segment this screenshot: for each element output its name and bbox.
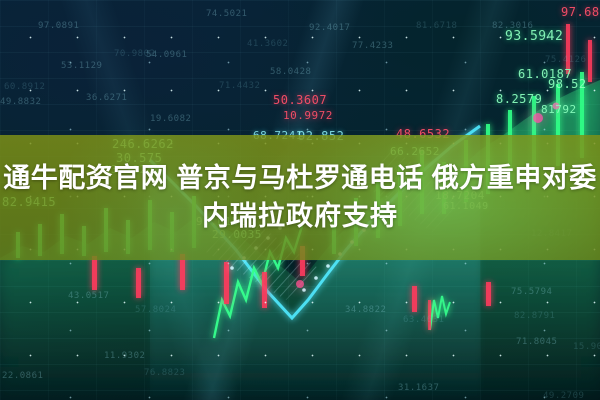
headline-text-block: 通牛配资官网 普京与马杜罗通电话 俄方重申对委 内瑞拉政府支持 [0,135,600,260]
price-ticker: 19.6082 [150,115,191,124]
price-ticker: 41.3602 [247,40,288,49]
price-ticker: 71.8045 [516,338,557,347]
price-ticker: 57.8024 [135,306,176,315]
price-ticker: 81792 [541,104,577,115]
price-ticker: 74.5021 [206,10,247,19]
price-ticker: 75.4126 [545,56,586,65]
price-ticker: 97.0891 [38,22,79,31]
price-ticker: 43.0517 [68,292,109,301]
price-ticker: 77.4233 [352,42,393,51]
price-ticker: 54.0961 [146,51,187,60]
price-ticker: 8.2579 [496,93,542,105]
screenshot-canvas: 93.594261.018798.528.25798179297.6850.36… [0,0,600,400]
price-ticker: 82.3016 [492,22,533,31]
price-ticker: 92.4017 [309,24,350,33]
price-ticker: 76.8823 [144,369,185,378]
price-ticker: 22.0861 [2,372,43,381]
price-ticker: 97.68 [561,6,600,18]
price-ticker: 63.4631 [403,316,444,325]
headline-line-2: 内瑞拉政府支持 [202,201,398,233]
price-ticker: 49.8832 [0,98,41,107]
price-ticker: 11.9302 [104,352,145,361]
price-ticker: 31.1637 [398,384,439,393]
price-ticker: 82.8791 [514,312,555,321]
price-ticker: 15.9021 [573,343,600,352]
price-ticker: 36.6271 [86,94,127,103]
price-ticker: 34.8822 [345,306,386,315]
price-ticker: 98.52 [548,78,587,90]
price-ticker: 58.0428 [270,68,311,77]
price-ticker: 71.4432 [219,82,260,91]
price-ticker: 49.2709 [543,392,584,400]
price-ticker: 75.5794 [511,288,552,297]
price-ticker: 60.8912 [4,83,45,92]
price-ticker: 53.1129 [61,62,102,71]
price-ticker: 10.9972 [283,110,333,121]
price-ticker: 81.6718 [416,22,457,31]
headline-line-1: 通牛配资官网 普京与马杜罗通电话 俄方重申对委 [3,163,597,195]
price-ticker: 50.3607 [273,94,327,106]
price-ticker: 93.5942 [505,30,563,43]
